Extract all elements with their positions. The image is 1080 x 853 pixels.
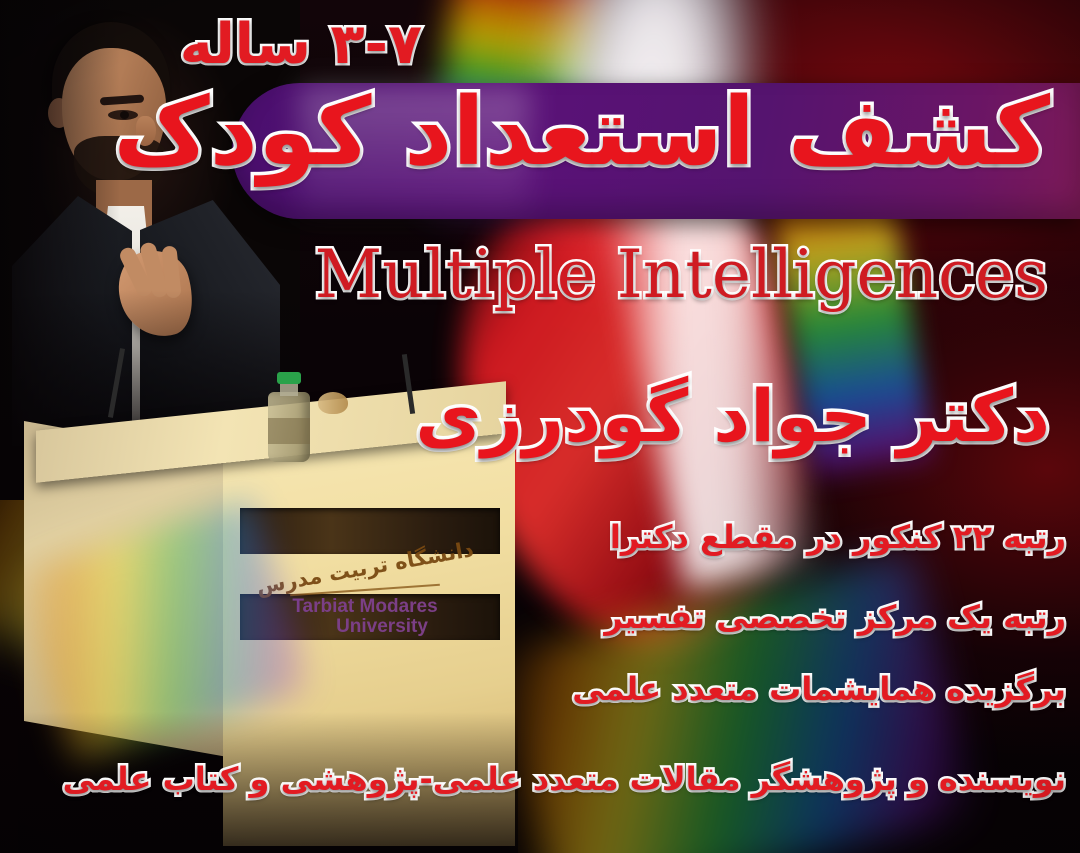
poster-canvas: دانشگاه تربیت مدرس Tarbiat Modares Unive… bbox=[0, 0, 1080, 853]
page-title: کشف استعداد کودک bbox=[113, 78, 1050, 187]
age-range-badge: ۳-۷ ساله bbox=[180, 12, 422, 77]
credential-item: برگزیده همایشمات متعدد علمی bbox=[572, 670, 1066, 708]
credential-item: رتبه یک مرکز تخصصی تفسیر bbox=[604, 598, 1066, 636]
credential-item: نویسنده و پژوهشگر مقالات متعدد علمی-پژوه… bbox=[63, 760, 1066, 798]
presenter-name: دکتر جواد گودرزی bbox=[415, 374, 1050, 458]
subtitle-english: Multiple Intelligences bbox=[315, 236, 1048, 313]
credential-item: رتبه ۲۲ کنکور در مقطع دکترا bbox=[610, 518, 1066, 556]
